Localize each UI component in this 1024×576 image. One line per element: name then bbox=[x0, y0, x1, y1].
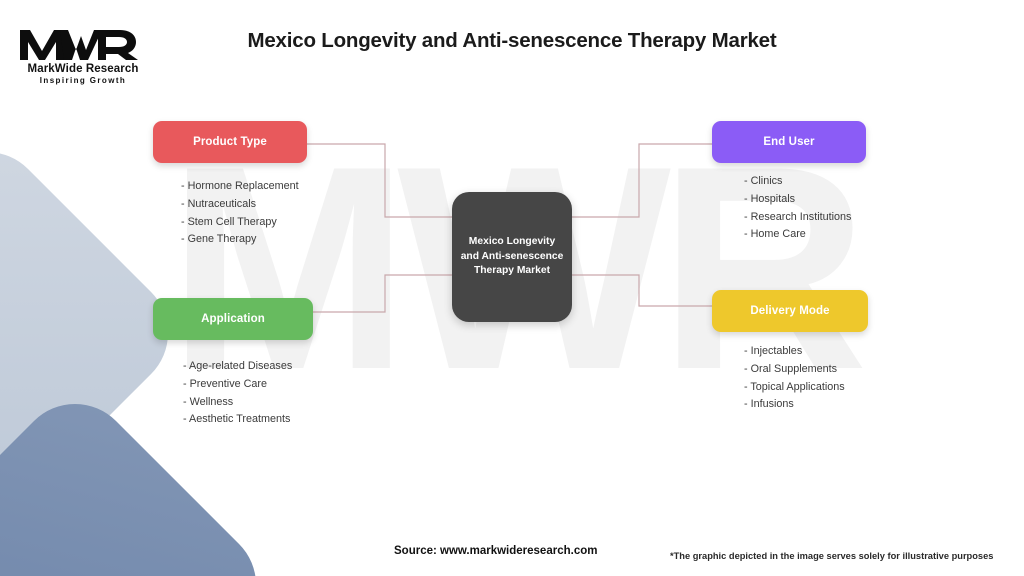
center-line-3: Therapy Market bbox=[474, 265, 550, 276]
list-application: - Age-related Diseases - Preventive Care… bbox=[183, 358, 292, 429]
center-line-2: and Anti-senescence bbox=[461, 251, 564, 262]
node-end-user[interactable]: End User bbox=[712, 121, 866, 163]
list-item: - Age-related Diseases bbox=[183, 358, 292, 376]
list-item: - Clinics bbox=[744, 173, 851, 191]
list-product-type: - Hormone Replacement - Nutraceuticals -… bbox=[181, 178, 299, 249]
list-item: - Research Institutions bbox=[744, 209, 851, 227]
list-item: - Wellness bbox=[183, 394, 292, 412]
list-item: - Injectables bbox=[744, 343, 845, 361]
source-text: Source: www.markwideresearch.com bbox=[394, 545, 597, 557]
node-delivery-mode-label: Delivery Mode bbox=[750, 305, 829, 317]
list-end-user: - Clinics - Hospitals - Research Institu… bbox=[744, 173, 851, 244]
list-item: - Oral Supplements bbox=[744, 361, 845, 379]
node-product-type[interactable]: Product Type bbox=[153, 121, 307, 163]
list-item: - Aesthetic Treatments bbox=[183, 411, 292, 429]
list-item: - Home Care bbox=[744, 226, 851, 244]
page-title: Mexico Longevity and Anti-senescence The… bbox=[0, 29, 1024, 53]
node-application[interactable]: Application bbox=[153, 298, 313, 340]
center-line-1: Mexico Longevity bbox=[469, 236, 555, 247]
node-center-market[interactable]: Mexico Longevity and Anti-senescence The… bbox=[452, 192, 572, 322]
node-delivery-mode[interactable]: Delivery Mode bbox=[712, 290, 868, 332]
node-end-user-label: End User bbox=[763, 136, 814, 148]
list-delivery-mode: - Injectables - Oral Supplements - Topic… bbox=[744, 343, 845, 414]
node-application-label: Application bbox=[201, 313, 265, 325]
disclaimer-text: *The graphic depicted in the image serve… bbox=[670, 551, 993, 561]
list-item: - Hormone Replacement bbox=[181, 178, 299, 196]
brand-name: MarkWide Research bbox=[18, 63, 148, 75]
node-product-type-label: Product Type bbox=[193, 136, 267, 148]
list-item: - Hospitals bbox=[744, 191, 851, 209]
list-item: - Gene Therapy bbox=[181, 231, 299, 249]
list-item: - Infusions bbox=[744, 396, 845, 414]
list-item: - Nutraceuticals bbox=[181, 196, 299, 214]
market-segmentation-diagram: Product Type - Hormone Replacement - Nut… bbox=[0, 0, 1024, 576]
list-item: - Stem Cell Therapy bbox=[181, 214, 299, 232]
brand-tagline: Inspiring Growth bbox=[18, 76, 148, 85]
list-item: - Topical Applications bbox=[744, 379, 845, 397]
list-item: - Preventive Care bbox=[183, 376, 292, 394]
